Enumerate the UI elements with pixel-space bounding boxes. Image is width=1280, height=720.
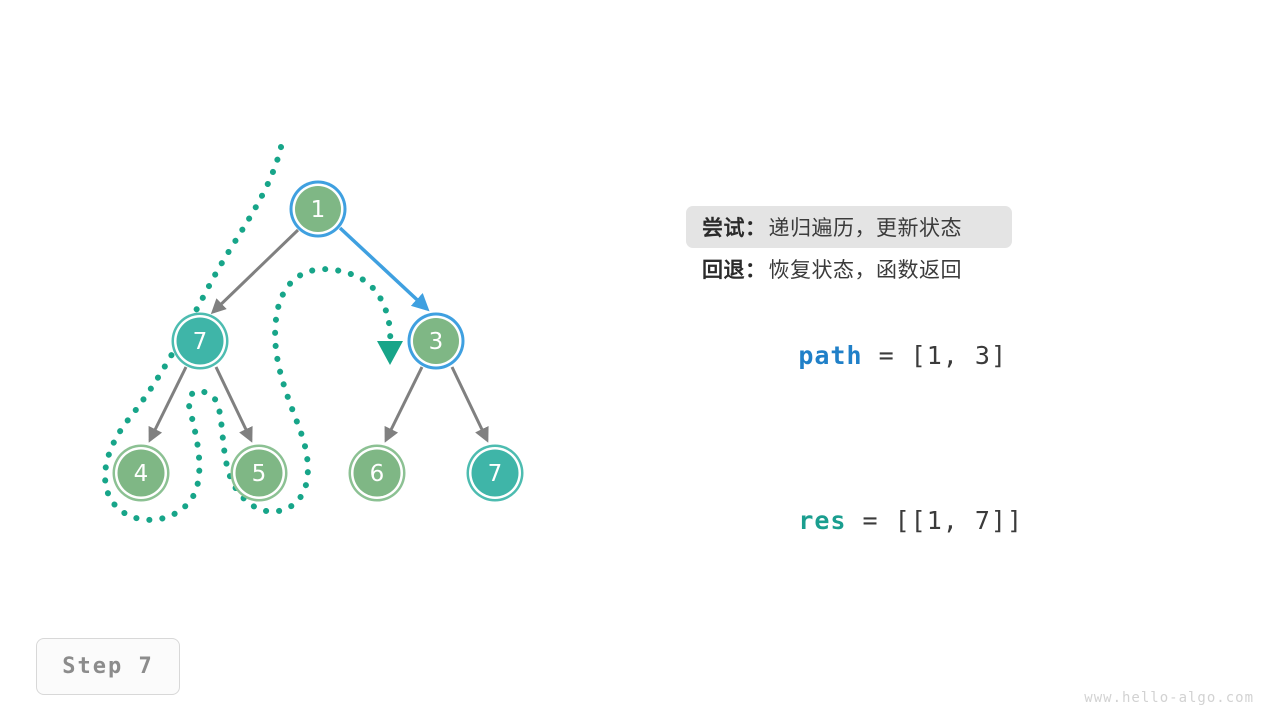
step-badge: Step 7 [36, 638, 180, 695]
code-value-res: = [[1, 7]] [846, 506, 1023, 535]
edge-1-to-3 [340, 228, 427, 309]
tree-node-5[interactable]: 5 [231, 445, 288, 502]
tree-node-3[interactable]: 3 [408, 313, 465, 370]
tree-node-4[interactable]: 4 [113, 445, 170, 502]
diagram-canvas: 1 7 3 4 5 [0, 0, 1280, 720]
code-var-path: path [798, 341, 862, 370]
state-panel: 尝试： 递归遍历，更新状态 回退： 恢复状态，函数返回 path = [1, 3… [686, 206, 1246, 564]
code-value-path: = [1, 3] [863, 341, 1007, 370]
edge-1-to-7left [213, 230, 298, 312]
node-6-label: 6 [370, 461, 385, 487]
binary-tree-diagram: 1 7 3 4 5 [0, 0, 660, 720]
state-row-try: 尝试： 递归遍历，更新状态 [686, 206, 1012, 248]
state-row-backtrack-desc: 恢复状态，函数返回 [769, 254, 963, 284]
edge-3-to-6 [386, 367, 422, 440]
tree-node-1[interactable]: 1 [290, 181, 347, 238]
node-7left-label: 7 [193, 329, 208, 355]
code-line-path: path = [1, 3] [686, 312, 1246, 399]
node-4-label: 4 [134, 461, 149, 487]
state-row-backtrack: 回退： 恢复状态，函数返回 [686, 248, 1246, 290]
tree-node-6[interactable]: 6 [349, 445, 406, 502]
code-var-res: res [798, 506, 846, 535]
tree-node-7-left[interactable]: 7 [172, 313, 229, 370]
tree-node-7-right[interactable]: 7 [467, 445, 524, 502]
edge-7left-to-5 [216, 367, 251, 440]
state-row-backtrack-term: 回退： [702, 254, 767, 284]
step-badge-label: Step 7 [62, 654, 153, 679]
node-3-label: 3 [429, 329, 444, 355]
traversal-arrow-tip [377, 341, 403, 365]
state-row-try-term: 尝试： [702, 212, 767, 242]
watermark: www.hello-algo.com [1084, 690, 1254, 706]
node-1-label: 1 [311, 197, 326, 223]
edge-3-to-7right [452, 367, 487, 440]
state-row-try-desc: 递归遍历，更新状态 [769, 212, 963, 242]
code-line-res: res = [[1, 7]] [686, 477, 1246, 564]
node-7right-label: 7 [488, 461, 503, 487]
node-5-label: 5 [252, 461, 267, 487]
